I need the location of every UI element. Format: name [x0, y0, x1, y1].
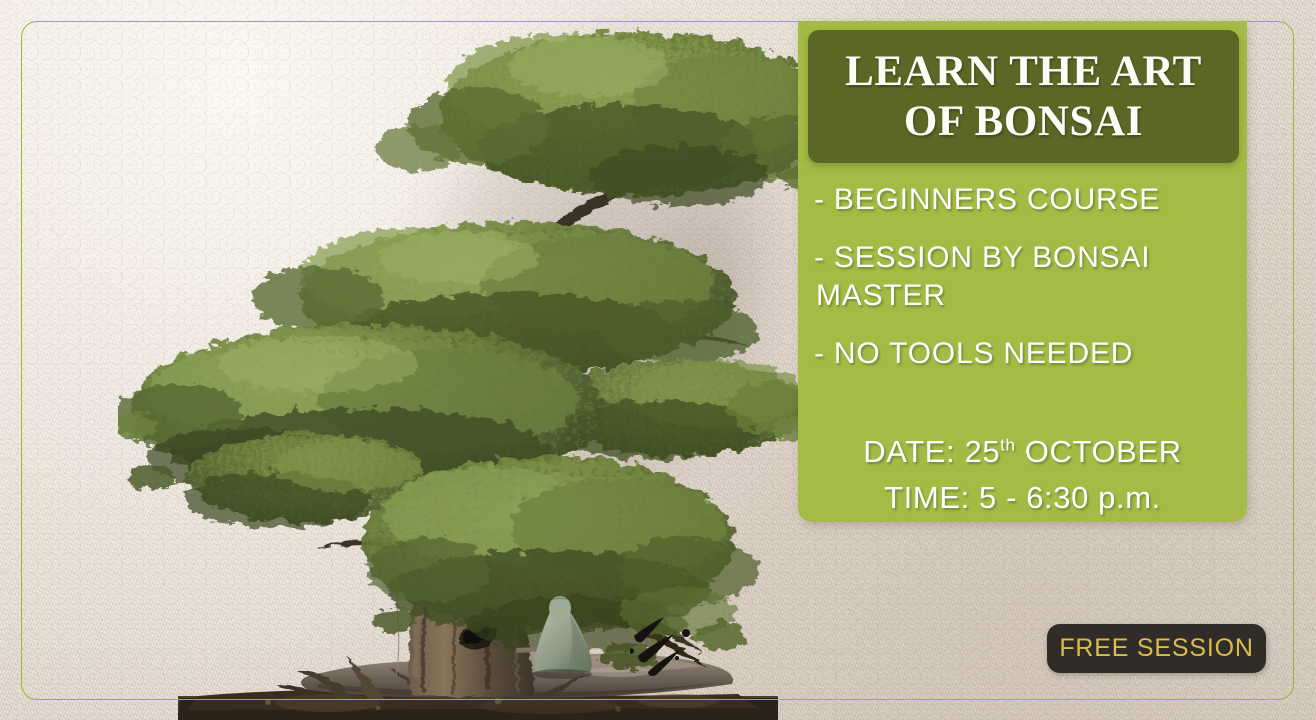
schedule-block: DATE: 25th OCTOBER TIME: 5 - 6:30 p.m. [798, 429, 1247, 521]
date-suffix: OCTOBER [1016, 434, 1182, 469]
poster-title: LEARN THE ART OF BONSAI [845, 47, 1202, 147]
poster-canvas: LEARN THE ART OF BONSAI - BEGINNERS COUR… [0, 0, 1316, 720]
brush-stroke-mark [630, 612, 700, 678]
free-session-label: FREE SESSION [1059, 634, 1253, 663]
bullet-list: - BEGINNERS COURSE - SESSION BY BONSAI M… [810, 181, 1238, 373]
free-session-badge: FREE SESSION [1047, 624, 1266, 673]
date-ordinal: th [1000, 436, 1015, 455]
info-panel: LEARN THE ART OF BONSAI - BEGINNERS COUR… [798, 21, 1247, 522]
title-box: LEARN THE ART OF BONSAI [808, 30, 1239, 163]
bullet-item-2: - SESSION BY BONSAI MASTER [810, 239, 1238, 315]
schedule-date: DATE: 25th OCTOBER [798, 429, 1247, 475]
bullet-item-3: - NO TOOLS NEEDED [810, 335, 1238, 373]
schedule-time: TIME: 5 - 6:30 p.m. [798, 475, 1247, 521]
bullet-item-1: - BEGINNERS COURSE [810, 181, 1238, 219]
title-line-1: LEARN THE ART [845, 47, 1202, 97]
foliage-pad-top [376, 32, 836, 206]
bonsai-tree-image [118, 8, 838, 720]
date-prefix: DATE: 25 [863, 434, 1000, 469]
title-line-2: OF BONSAI [845, 97, 1202, 147]
